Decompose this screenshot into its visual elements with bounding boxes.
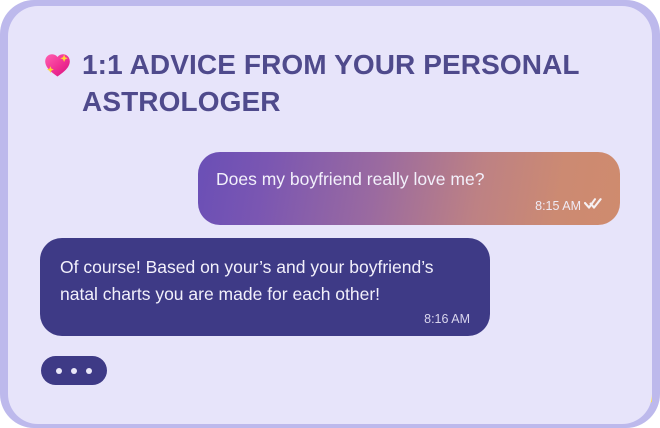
message-text: Does my boyfriend really love me? — [216, 166, 602, 193]
message-timestamp: 8:15 AM — [535, 199, 581, 213]
chat-message-incoming[interactable]: Of course! Based on your’s and your boyf… — [40, 238, 490, 336]
chat-thread: Does my boyfriend really love me? 8:15 A… — [8, 138, 652, 424]
advice-card: 1:1 ADVICE FROM YOUR PERSONAL ASTROLOGER… — [8, 6, 652, 424]
typing-dot — [71, 368, 77, 374]
message-text: Of course! Based on your’s and your boyf… — [60, 254, 470, 308]
page-title: 1:1 ADVICE FROM YOUR PERSONAL ASTROLOGER — [82, 46, 580, 120]
message-meta: 8:16 AM — [60, 312, 470, 326]
message-meta: 8:15 AM — [216, 197, 602, 215]
typing-dot — [86, 368, 92, 374]
sparkling-heart-icon — [42, 49, 72, 79]
card-header: 1:1 ADVICE FROM YOUR PERSONAL ASTROLOGER — [42, 46, 602, 120]
chat-message-outgoing[interactable]: Does my boyfriend really love me? 8:15 A… — [198, 152, 620, 225]
typing-dot — [56, 368, 62, 374]
screenshot-frame: 1:1 ADVICE FROM YOUR PERSONAL ASTROLOGER… — [0, 0, 660, 428]
typing-indicator — [41, 356, 107, 385]
message-timestamp: 8:16 AM — [424, 312, 470, 326]
double-check-icon — [584, 197, 602, 215]
